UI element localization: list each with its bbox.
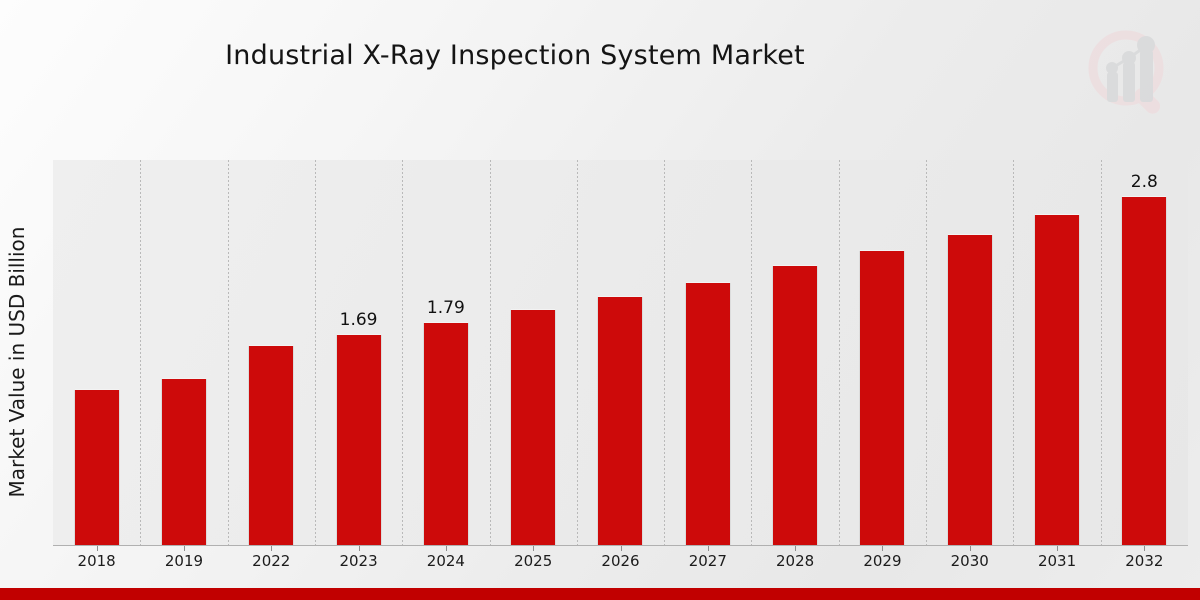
bar[interactable]	[1035, 215, 1079, 545]
bar-slot	[228, 160, 315, 545]
x-axis-tick-label: 2019	[165, 552, 203, 570]
bar-value-label: 1.69	[340, 310, 378, 330]
bar-slot	[926, 160, 1013, 545]
bar-slot	[53, 160, 140, 545]
bar-slot	[140, 160, 227, 545]
x-axis-tick-labels: 2018201920222023202420252026202720282029…	[53, 552, 1188, 578]
bar-slot: 1.69	[315, 160, 402, 545]
bar[interactable]	[1122, 197, 1166, 545]
bar-slot	[577, 160, 664, 545]
bars-layer: 1.691.792.8	[53, 160, 1188, 545]
bar[interactable]	[773, 266, 817, 545]
x-axis-tick-label: 2031	[1038, 552, 1076, 570]
x-axis-tick	[708, 546, 709, 551]
bar[interactable]	[686, 283, 730, 545]
bar-slot	[839, 160, 926, 545]
x-axis-tick	[97, 546, 98, 551]
y-axis-label: Market Value in USD Billion	[5, 142, 29, 582]
x-axis-tick-label: 2027	[689, 552, 727, 570]
x-axis-tick-label: 2028	[776, 552, 814, 570]
bar[interactable]	[860, 251, 904, 545]
x-axis-tick-label: 2025	[514, 552, 552, 570]
x-axis-tick	[882, 546, 883, 551]
bar[interactable]	[511, 310, 555, 545]
bar-slot	[1013, 160, 1100, 545]
bar-value-label: 1.79	[427, 298, 465, 318]
bar[interactable]	[598, 297, 642, 545]
bar[interactable]	[75, 390, 119, 545]
x-axis-tick	[795, 546, 796, 551]
x-axis-tick-label: 2023	[339, 552, 377, 570]
bar-slot	[751, 160, 838, 545]
bar-slot	[664, 160, 751, 545]
x-axis-tick-label: 2030	[951, 552, 989, 570]
x-axis-tick-label: 2024	[427, 552, 465, 570]
magnifier-bar-chart-logo	[1078, 22, 1182, 126]
bar[interactable]	[249, 346, 293, 545]
bar-slot	[490, 160, 577, 545]
x-axis-tick-label: 2026	[601, 552, 639, 570]
chart-page: Industrial X-Ray Inspection System Marke…	[0, 0, 1200, 600]
x-axis-tick	[359, 546, 360, 551]
page-title: Industrial X-Ray Inspection System Marke…	[0, 40, 1030, 71]
bar[interactable]	[162, 379, 206, 545]
x-axis-tick	[533, 546, 534, 551]
bar-slot: 1.79	[402, 160, 489, 545]
x-axis-tick	[184, 546, 185, 551]
x-axis-tick	[271, 546, 272, 551]
bar[interactable]	[948, 235, 992, 545]
bar-value-label: 2.8	[1131, 172, 1158, 192]
x-axis-tick	[970, 546, 971, 551]
bar[interactable]	[424, 323, 468, 545]
plot-area: 1.691.792.8	[53, 160, 1188, 545]
x-axis-tick	[621, 546, 622, 551]
bar-slot: 2.8	[1101, 160, 1188, 545]
x-axis-tick-label: 2032	[1125, 552, 1163, 570]
x-axis-tick	[446, 546, 447, 551]
bar[interactable]	[337, 335, 381, 545]
x-axis-tick	[1144, 546, 1145, 551]
footer-accent-bar	[0, 588, 1200, 600]
x-axis-tick-label: 2018	[78, 552, 116, 570]
x-axis-tick-label: 2029	[863, 552, 901, 570]
x-axis-tick	[1057, 546, 1058, 551]
x-axis-tick-label: 2022	[252, 552, 290, 570]
